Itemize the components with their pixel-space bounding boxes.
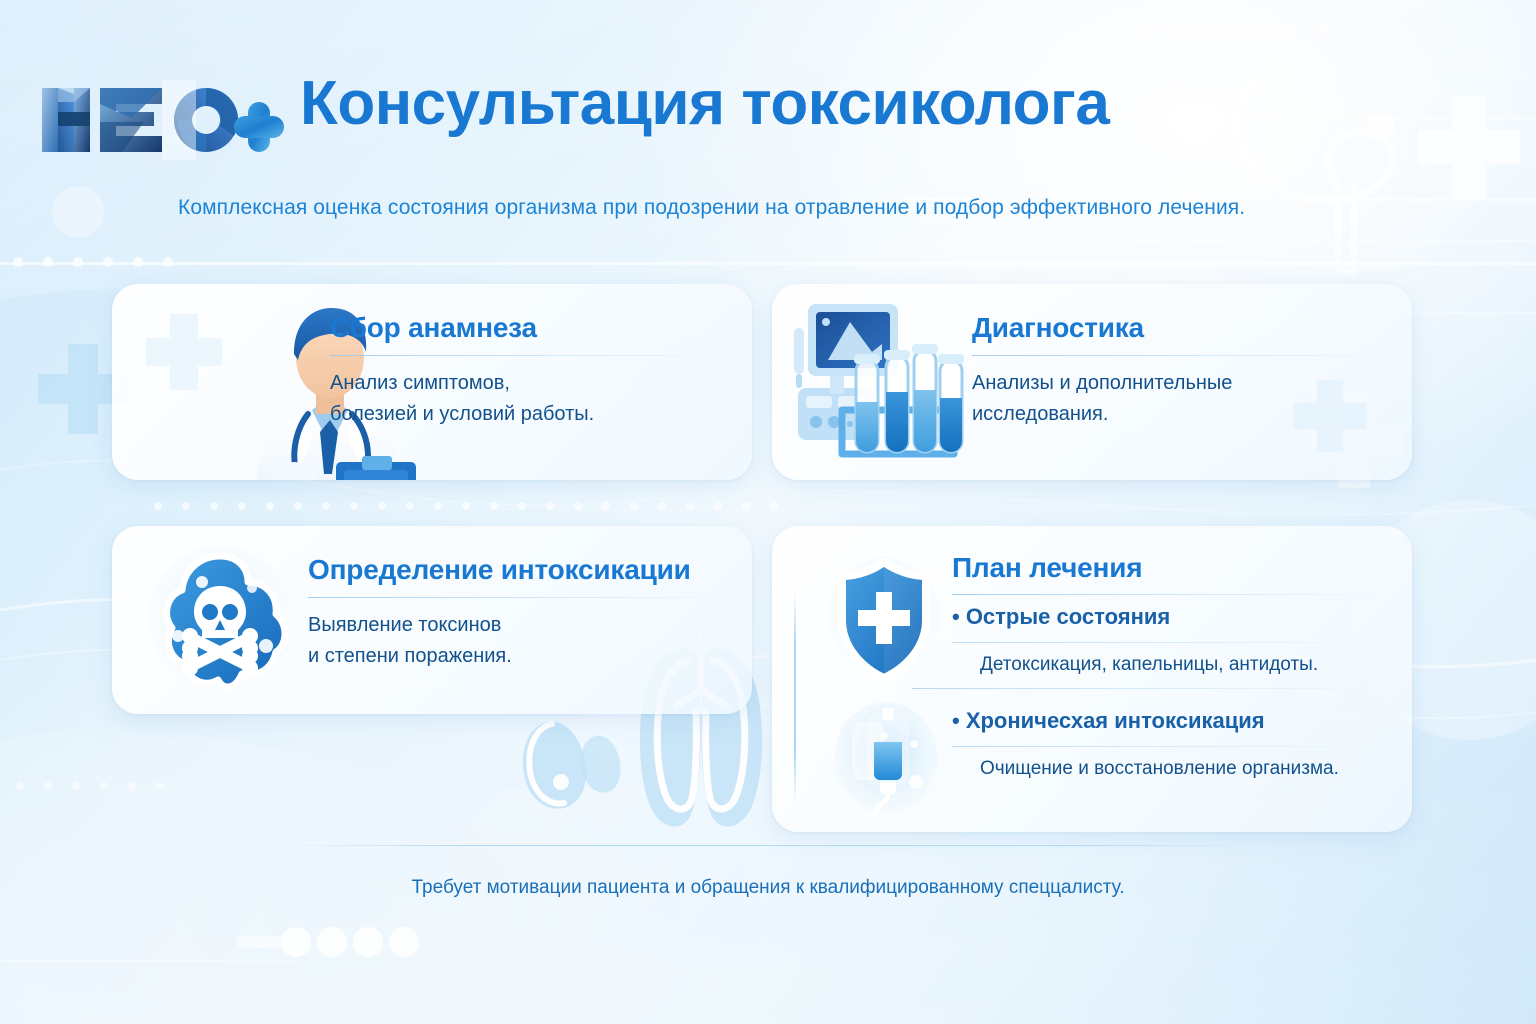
kidney-decoration <box>523 722 621 809</box>
title-divider <box>330 355 730 356</box>
cross-icon <box>134 302 234 402</box>
text-line-2: болезией и условий работы. <box>330 399 730 429</box>
card-intoxication[interactable]: Определение интоксикации Выявление токси… <box>112 526 752 714</box>
text-line-1: Выявление токсинов <box>308 610 738 640</box>
brand-logo[interactable] <box>34 74 284 166</box>
card-diagnostics-body: Диагностика Анализы и дополнительные исс… <box>972 312 1392 429</box>
card-anamnesis[interactable]: Сбор анамнеза Анализ симптомов, болезией… <box>112 284 752 480</box>
text-line-1: Анализ симптомов, <box>330 368 730 398</box>
plan-item-acute-desc: Детоксикация, капельницы, антидоты. <box>980 654 1318 676</box>
plan-section-divider <box>912 688 1384 689</box>
page-subtitle: Комплексная оценка состояния организма п… <box>178 196 1245 220</box>
title-divider <box>952 594 1382 595</box>
card-diagnostics-text: Анализы и дополнительные исследования. <box>972 368 1392 429</box>
card-diagnostics[interactable]: Диагностика Анализы и дополнительные исс… <box>772 284 1412 480</box>
shield-cross-icon <box>826 554 942 684</box>
plan-item-acute-label: • Острые состояния <box>952 604 1170 630</box>
page-title: Консультация токсиколога <box>300 68 1109 139</box>
card-diagnostics-title: Диагностика <box>972 312 1392 344</box>
text-line-1: Анализы и дополнительные <box>972 368 1392 398</box>
card-intoxication-text: Выявление токсинов и степени поражения. <box>308 610 738 671</box>
plan-item-chronic-desc: Очищение и восстановление организма. <box>980 758 1339 780</box>
card-anamnesis-title: Сбор анамнеза <box>330 312 730 344</box>
text-line-2: и степени поражения. <box>308 641 738 671</box>
text-line-2: исследования. <box>972 399 1392 429</box>
card-treatment-plan[interactable]: План лечения • Острые состоян <box>772 526 1412 832</box>
footer-divider <box>286 845 1250 846</box>
lab-equipment-illustration <box>794 298 974 468</box>
plan-item-chronic-label: • Хроничесхая интоксикация <box>952 708 1265 734</box>
skull-crossbones-icon <box>140 542 300 702</box>
plan-item-divider <box>952 746 1384 747</box>
footer-note: Требует мотивации пациента и обращения к… <box>0 877 1536 899</box>
iv-drip-icon <box>832 702 940 818</box>
accent-bar <box>794 592 796 804</box>
title-divider <box>972 355 1392 356</box>
infographic-canvas: Консультация токсиколога Комплексная оце… <box>0 0 1536 1024</box>
card-plan-title: План лечения <box>952 552 1142 584</box>
card-intoxication-body: Определение интоксикации Выявление токси… <box>308 554 738 671</box>
card-anamnesis-body: Сбор анамнеза Анализ симптомов, болезией… <box>330 312 730 429</box>
liver-decoration <box>1237 82 1393 272</box>
plan-item-divider <box>952 642 1384 643</box>
card-anamnesis-text: Анализ симптомов, болезией и условий раб… <box>330 368 730 429</box>
title-divider <box>308 597 738 598</box>
card-intoxication-title: Определение интоксикации <box>308 554 738 586</box>
